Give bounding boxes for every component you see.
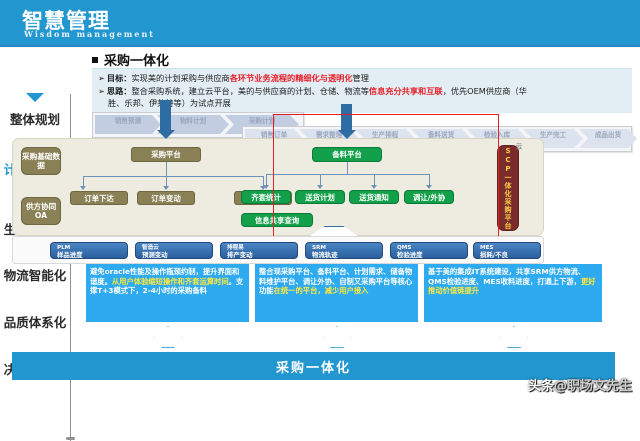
bullet-approach: ➢思路：整合采购系统，建立云平台，美的与供应商的计划、仓储、物流等信息充分共享和… bbox=[98, 86, 527, 96]
footer-label: 采购一体化 bbox=[276, 357, 351, 376]
flow-chevron-r2-6: 成品出货 bbox=[579, 129, 637, 148]
sidebar-item-label: 品质体系化 bbox=[4, 315, 67, 330]
watermark: 头条@职场文先生 bbox=[528, 375, 632, 394]
watermark-prefix: 头条 bbox=[528, 379, 554, 394]
system-desc: 预测变动 bbox=[142, 252, 212, 259]
bullet-approach-text: 整合采购系统，建立云平台，美的与供应商的计划、仓储、物流等 bbox=[131, 86, 368, 96]
page-title: 采购一体化 bbox=[92, 50, 169, 69]
system-box-paichengyi[interactable]: 排程易 排产变动 bbox=[220, 242, 298, 259]
connector-purchase-horizontal bbox=[83, 176, 263, 177]
arrow-to-purchase-platform-shaft bbox=[160, 100, 171, 130]
watermark-handle: @职场文先生 bbox=[554, 379, 632, 394]
sidebar-item-0[interactable]: 整体规划 bbox=[0, 109, 70, 128]
system-desc: 排产变动 bbox=[227, 252, 297, 259]
box-scp-platform: SCP一体化采购平台 bbox=[497, 145, 519, 231]
system-desc: 物流轨迹 bbox=[312, 252, 382, 259]
box-supplier-oa: 供方协同OA bbox=[21, 197, 61, 225]
summary-box: ➢目标：实现美的计划采购与供应商各环节业务流程的精细化与透明化管理 ➢思路：整合… bbox=[92, 68, 632, 113]
bullet-approach-highlight: 信息充分共享和互联 bbox=[369, 86, 443, 96]
arrow-to-purchase-platform-head-icon bbox=[157, 130, 175, 139]
red-highlight-frame bbox=[273, 114, 499, 254]
sidebar-item-label: 整体规划 bbox=[10, 112, 60, 127]
sidebar-item-4[interactable]: 品质体系化 bbox=[0, 312, 70, 331]
header-underline bbox=[0, 45, 640, 47]
arrow-bullet-icon: ➢ bbox=[98, 73, 105, 83]
callout-2: 整合现采购平台、备料平台、计划需求、储备物料维护平台、调让外协、自制又采购平台等… bbox=[255, 264, 418, 322]
system-desc: 损耗/不良 bbox=[480, 252, 540, 259]
sidebar-item-3[interactable]: 物流智能化 bbox=[0, 265, 70, 284]
flow-chevron-r1-0: 销售预测 bbox=[95, 115, 161, 134]
footer-banner: 采购一体化 bbox=[12, 352, 615, 380]
system-box-zhizaoyun[interactable]: 智造云 预测变动 bbox=[135, 242, 213, 259]
system-desc: 检验进度 bbox=[397, 252, 467, 259]
connector-purchase-vertical bbox=[166, 162, 167, 176]
box-purchase-platform: 采购平台 bbox=[131, 147, 201, 162]
sidebar-item-label: 物流智能化 bbox=[4, 268, 67, 283]
system-box-mes[interactable]: MES 损耗/不良 bbox=[473, 242, 541, 259]
arrow-order-issue-icon bbox=[80, 186, 86, 190]
system-box-srm[interactable]: SRM 物流轨迹 bbox=[305, 242, 383, 259]
arrow-bullet-icon: ➢ bbox=[98, 86, 105, 96]
header-title-en: Wisdom management bbox=[24, 29, 155, 39]
arrow-order-change-icon bbox=[163, 186, 169, 190]
callout-2-highlight: 在统一的平台，减少用户接入 bbox=[274, 286, 369, 295]
bullet-goal: ➢目标：实现美的计划采购与供应商各环节业务流程的精细化与透明化管理 bbox=[98, 73, 369, 83]
sidebar-axis-cap bbox=[66, 437, 75, 440]
callout-3-text: 基于美的集成IT系统建设，共享SRM供方物流、QMS检验进度、MES收料进度，打… bbox=[428, 267, 585, 286]
callout-1-highlight: 从用户体验缩短操作和齐套运算时间 bbox=[112, 277, 229, 286]
callout-3: 基于美的集成IT系统建设，共享SRM供方物流、QMS检验进度、MES收料进度，打… bbox=[424, 264, 602, 322]
box-order-issue: 订单下达 bbox=[70, 191, 128, 205]
box-order-change: 订单变动 bbox=[137, 191, 195, 205]
cloud-label: 云 bbox=[513, 143, 523, 150]
arrow-green-0-icon bbox=[263, 185, 269, 189]
square-bullet-icon bbox=[92, 57, 98, 63]
sidebar-pointer-icon bbox=[26, 93, 44, 102]
page-title-text: 采购一体化 bbox=[104, 54, 169, 69]
bullet-goal-label: 目标： bbox=[107, 73, 132, 83]
callout-1: 避免oracle性能及操作瓶颈约制，提升界面和谐度。从用户体验缩短操作和齐套运算… bbox=[86, 264, 249, 322]
bullet-goal-text: 实现美的计划采购与供应商 bbox=[131, 73, 229, 83]
bullet-approach-tail: ，优先OEM供应商（华 bbox=[443, 86, 527, 96]
header-bar: 智慧管理 Wisdom management bbox=[0, 0, 640, 45]
system-desc: 样品进度 bbox=[57, 252, 127, 259]
bullet-approach-label: 思路： bbox=[107, 86, 132, 96]
slide-root: 智慧管理 Wisdom management 整体规划 计划一体化 （采购） 生… bbox=[0, 0, 640, 400]
bullet-goal-tail: 管理 bbox=[353, 73, 369, 83]
system-box-plm[interactable]: PLM 样品进度 bbox=[50, 242, 128, 259]
box-base-data: 采购基础数据 bbox=[21, 147, 61, 175]
system-box-qms[interactable]: QMS 检验进度 bbox=[390, 242, 468, 259]
bullet-goal-highlight: 各环节业务流程的精细化与透明化 bbox=[230, 73, 353, 83]
